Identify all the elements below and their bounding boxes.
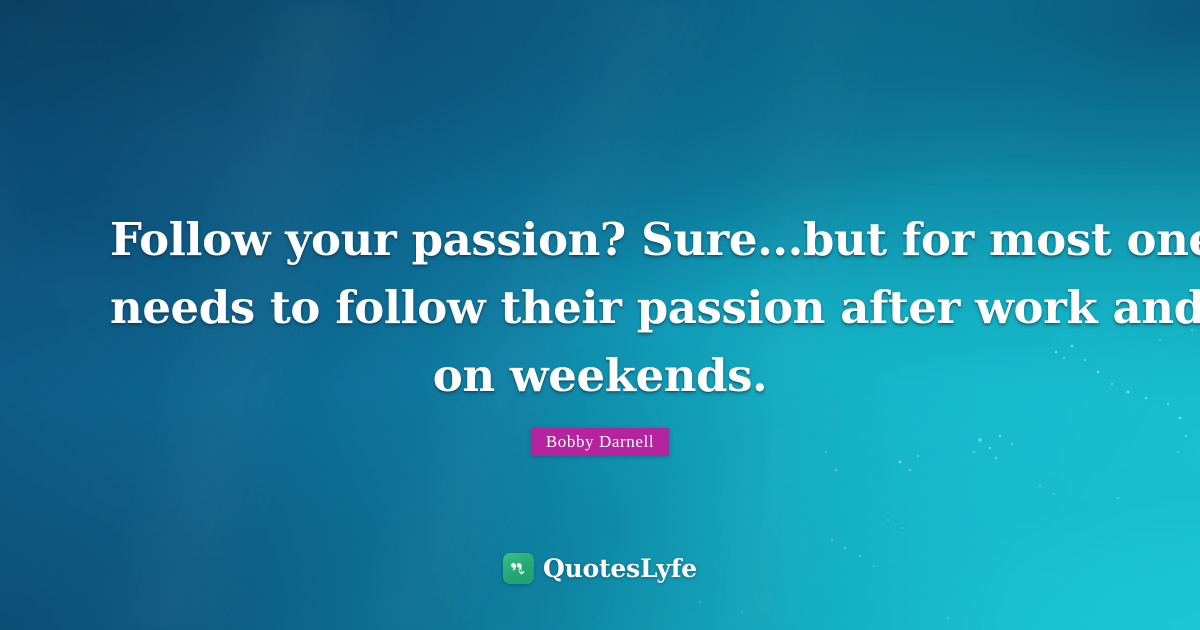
quote-line-3: on weekends.	[110, 342, 1090, 410]
card-content: Follow your passion? Sure...but for most…	[0, 0, 1200, 630]
quote-card: Follow your passion? Sure...but for most…	[0, 0, 1200, 630]
author-badge[interactable]: Bobby Darnell	[531, 428, 669, 456]
brand-name: QuotesLyfe	[543, 555, 697, 583]
brand-logo[interactable]: QuotesLyfe	[503, 553, 697, 584]
quote-line-1: Follow your passion? Sure...but for most…	[110, 206, 1090, 274]
quote-mark-icon	[503, 553, 534, 584]
quote-text: Follow your passion? Sure...but for most…	[0, 206, 1200, 410]
quote-line-2: needs to follow their passion after work…	[110, 274, 1090, 342]
